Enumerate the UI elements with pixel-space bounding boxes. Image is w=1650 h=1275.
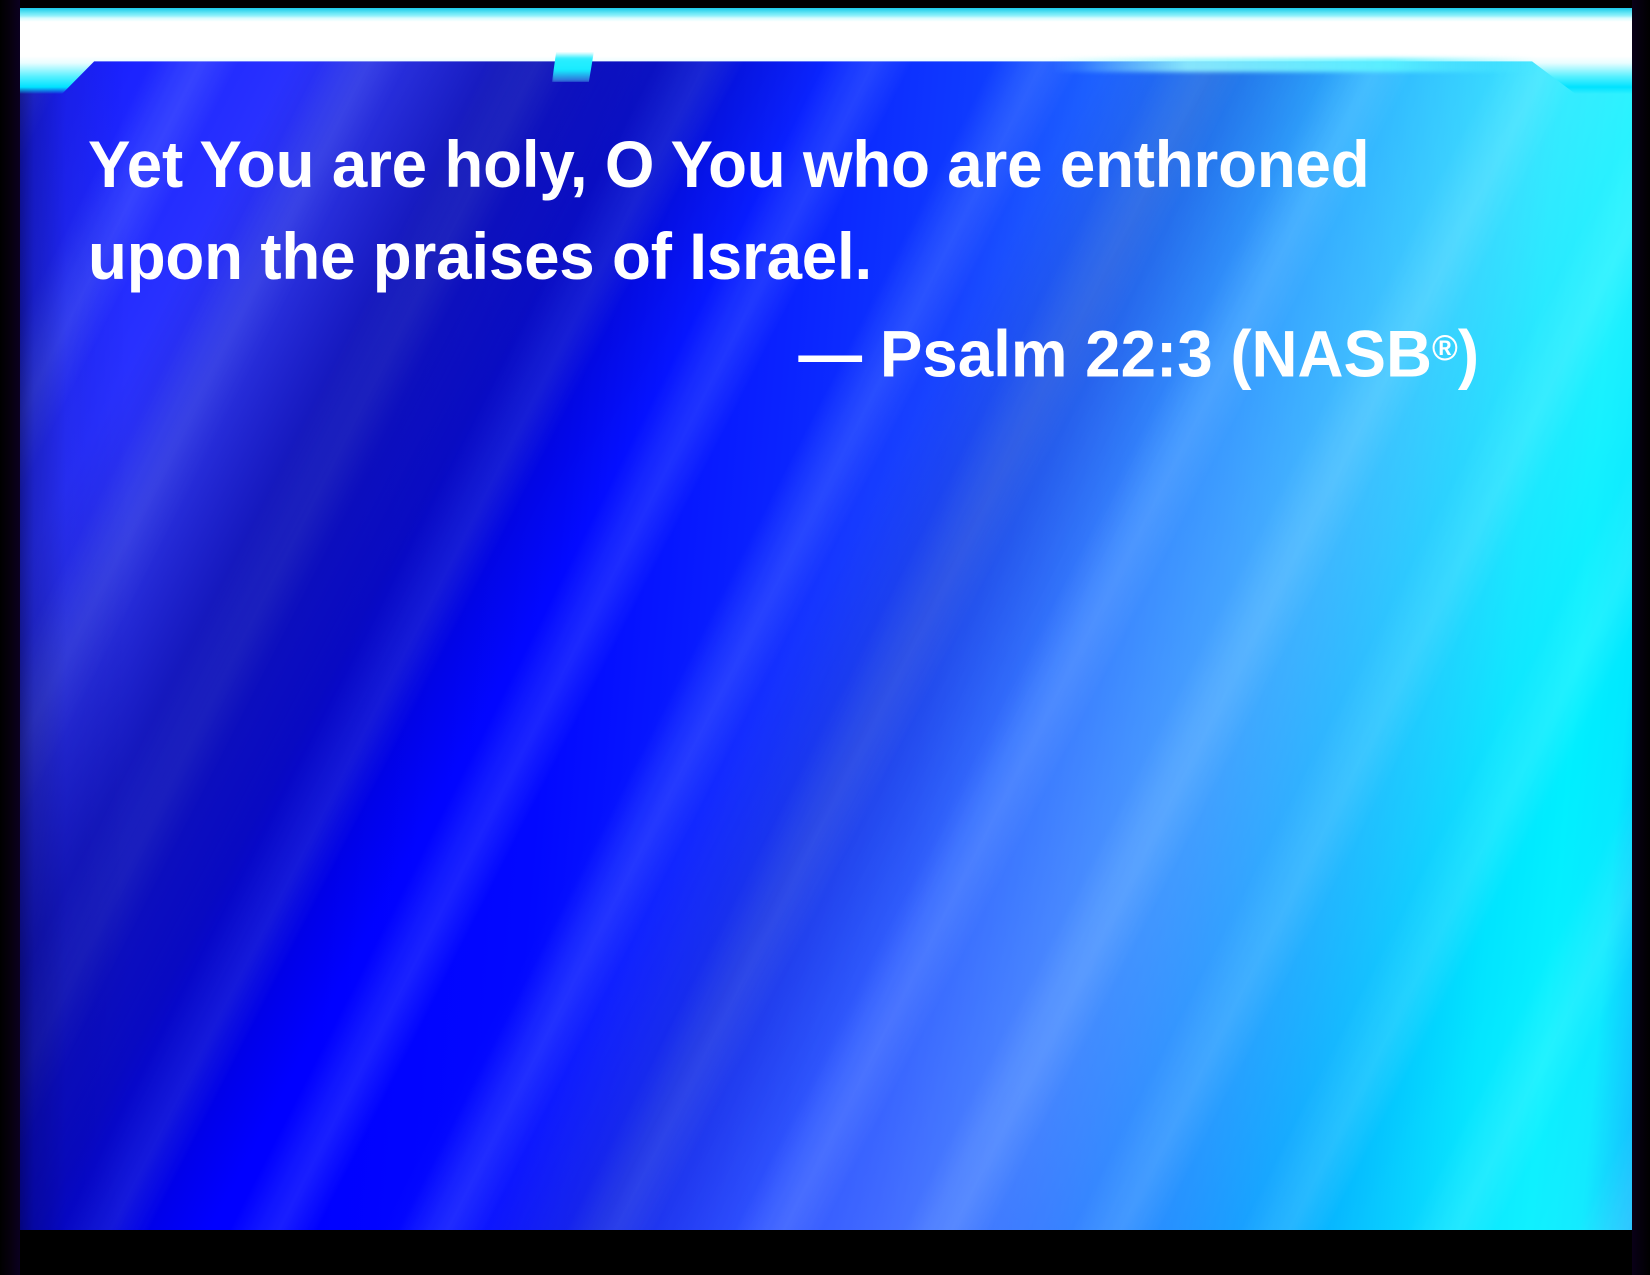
glow-band-top-edge (20, 8, 1632, 18)
citation-reference: Psalm 22:3 (880, 317, 1213, 391)
verse-line-2: upon the praises of Israel. (88, 210, 1458, 302)
glow-band-cyan-notch (552, 52, 594, 82)
citation-close-paren: ) (1458, 317, 1479, 391)
registered-trademark-icon: ® (1432, 327, 1458, 368)
frame-border-top (0, 0, 1650, 8)
citation-open-paren: ( (1230, 317, 1251, 391)
frame-border-bottom (0, 1230, 1650, 1275)
top-glow-band (20, 8, 1632, 94)
glow-band-core (20, 8, 1632, 94)
scripture-slide: Yet You are holy, O You who are enthrone… (0, 0, 1650, 1275)
citation-dash: — (798, 317, 862, 391)
citation-spacer-1 (862, 317, 880, 391)
glow-band-cyan-wisp (1052, 58, 1536, 72)
citation-translation: NASB (1252, 317, 1432, 391)
citation-spacer-2 (1213, 317, 1231, 391)
verse-citation: — Psalm 22:3 (NASB®) (138, 302, 1508, 400)
frame-border-left (0, 0, 20, 1275)
verse-line-1: Yet You are holy, O You who are enthrone… (88, 118, 1458, 210)
frame-border-right (1632, 0, 1650, 1275)
verse-text-block: Yet You are holy, O You who are enthrone… (88, 118, 1508, 400)
